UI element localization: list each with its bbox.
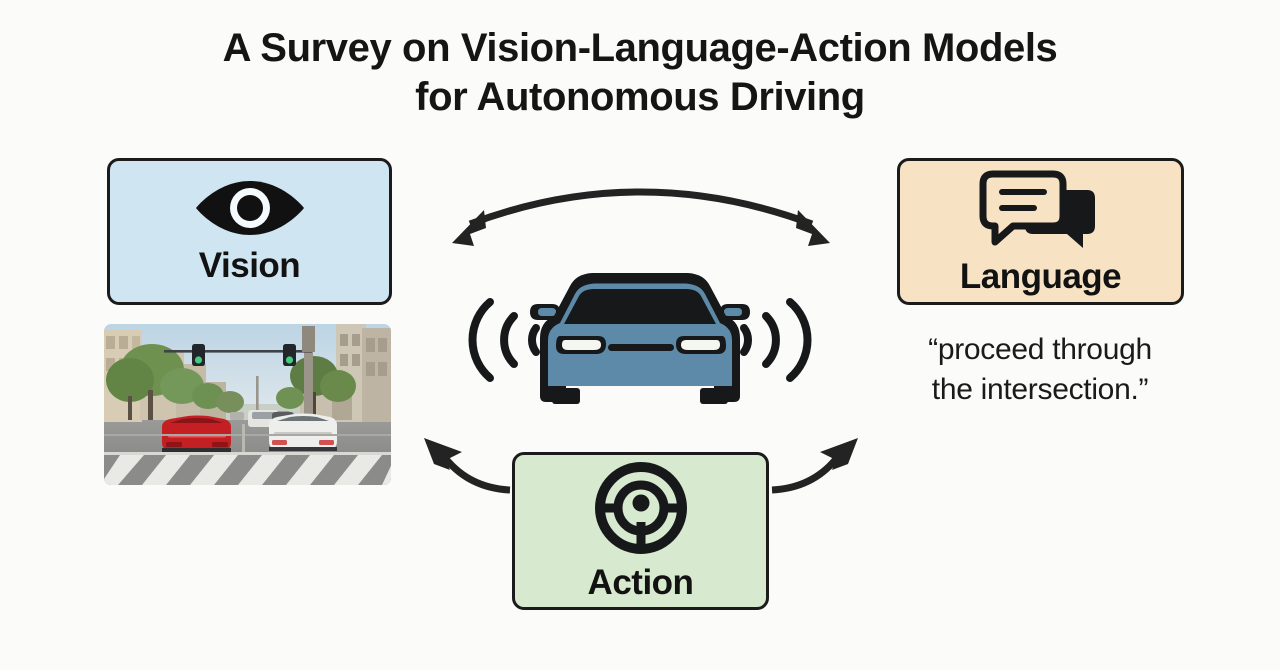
- vision-label: Vision: [199, 248, 300, 283]
- autonomous-car-with-sensor-waves-icon: [466, 262, 814, 418]
- urban-intersection-dashcam-photo: [104, 324, 391, 485]
- vision-language-arrow: [452, 192, 830, 246]
- speech-bubbles-icon: [979, 170, 1103, 255]
- eye-icon: [194, 179, 306, 242]
- action-language-arrow: [772, 438, 858, 490]
- figure-title: A Survey on Vision-Language-Action Model…: [0, 24, 1280, 122]
- left-sensor-waves: [472, 302, 536, 378]
- action-modality-box: Action: [512, 452, 769, 610]
- steering-wheel-icon: [595, 462, 687, 559]
- right-sensor-waves: [744, 302, 808, 378]
- figure-canvas: A Survey on Vision-Language-Action Model…: [0, 0, 1280, 670]
- vision-modality-box: Vision: [107, 158, 392, 305]
- language-label: Language: [960, 259, 1121, 294]
- language-modality-box: Language: [897, 158, 1184, 305]
- action-vision-arrow: [424, 438, 510, 490]
- language-quote-text: “proceed through the intersection.”: [880, 330, 1200, 410]
- action-label: Action: [588, 565, 694, 600]
